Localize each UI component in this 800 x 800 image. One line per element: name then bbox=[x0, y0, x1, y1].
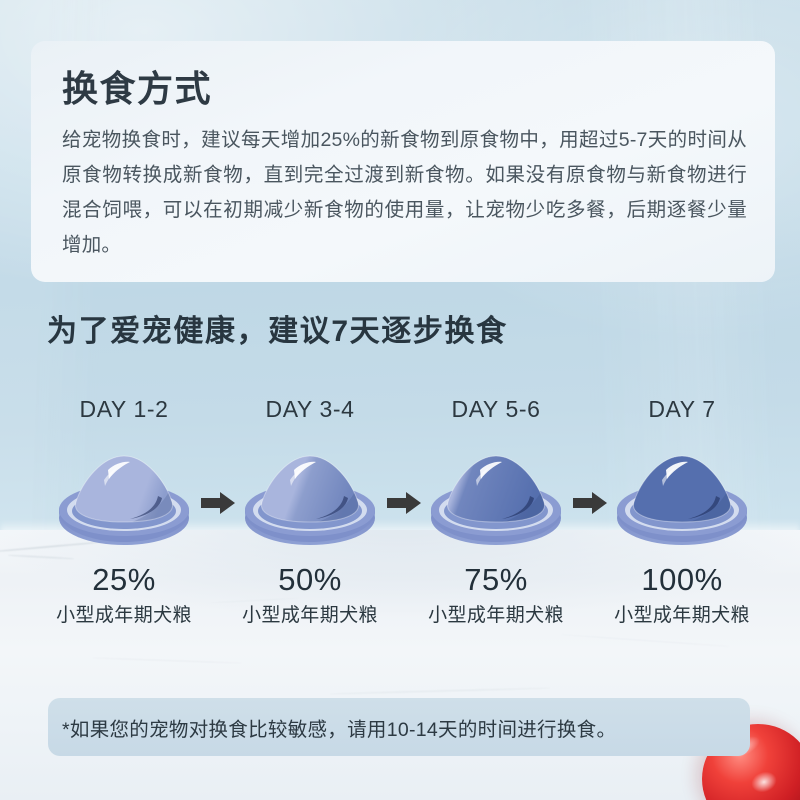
feeding-transition-info-card: 换食方式 给宠物换食时，建议每天增加25%的新食物到原食物中，用超过5-7天的时… bbox=[31, 41, 775, 282]
arrow-right-icon bbox=[573, 492, 607, 514]
bowl-illustration-wrap bbox=[589, 444, 775, 556]
day-label: DAY 1-2 bbox=[31, 396, 217, 430]
dog-food-bowl-icon bbox=[422, 444, 570, 548]
dog-food-bowl-icon bbox=[50, 444, 198, 548]
percent-label: 50% bbox=[217, 562, 403, 598]
page-content: 换食方式 给宠物换食时，建议每天增加25%的新食物到原食物中，用超过5-7天的时… bbox=[0, 0, 800, 800]
info-body-text: 给宠物换食时，建议每天增加25%的新食物到原食物中，用超过5-7天的时间从原食物… bbox=[62, 123, 747, 263]
dog-food-bowl-icon bbox=[236, 444, 384, 548]
transition-step: DAY 3-4 bbox=[217, 396, 403, 627]
food-name-label: 小型成年期犬粮 bbox=[31, 600, 217, 627]
arrow-right-icon bbox=[387, 492, 421, 514]
percent-label: 100% bbox=[589, 562, 775, 598]
footnote-card: *如果您的宠物对换食比较敏感，请用10-14天的时间进行换食。 bbox=[48, 698, 750, 756]
bowl-illustration-wrap bbox=[31, 444, 217, 556]
transition-step: DAY 1-2 bbox=[31, 396, 217, 627]
food-name-label: 小型成年期犬粮 bbox=[403, 600, 589, 627]
footnote-text: *如果您的宠物对换食比较敏感，请用10-14天的时间进行换食。 bbox=[62, 713, 616, 742]
percent-label: 25% bbox=[31, 562, 217, 598]
section-heading: 为了爱宠健康，建议7天逐步换食 bbox=[47, 306, 508, 350]
percent-label: 75% bbox=[403, 562, 589, 598]
food-name-label: 小型成年期犬粮 bbox=[589, 600, 775, 627]
page-title: 换食方式 bbox=[62, 69, 747, 109]
day-label: DAY 5-6 bbox=[403, 396, 589, 430]
food-name-label: 小型成年期犬粮 bbox=[217, 600, 403, 627]
day-label: DAY 7 bbox=[589, 396, 775, 430]
arrow-right-icon bbox=[201, 492, 235, 514]
transition-step: DAY 7 bbox=[589, 396, 775, 627]
bowl-illustration-wrap bbox=[403, 444, 589, 556]
transition-step: DAY 5-6 bbox=[403, 396, 589, 627]
transition-steps: DAY 1-2 bbox=[31, 396, 775, 627]
bowl-illustration-wrap bbox=[217, 444, 403, 556]
day-label: DAY 3-4 bbox=[217, 396, 403, 430]
dog-food-bowl-icon bbox=[608, 444, 756, 548]
